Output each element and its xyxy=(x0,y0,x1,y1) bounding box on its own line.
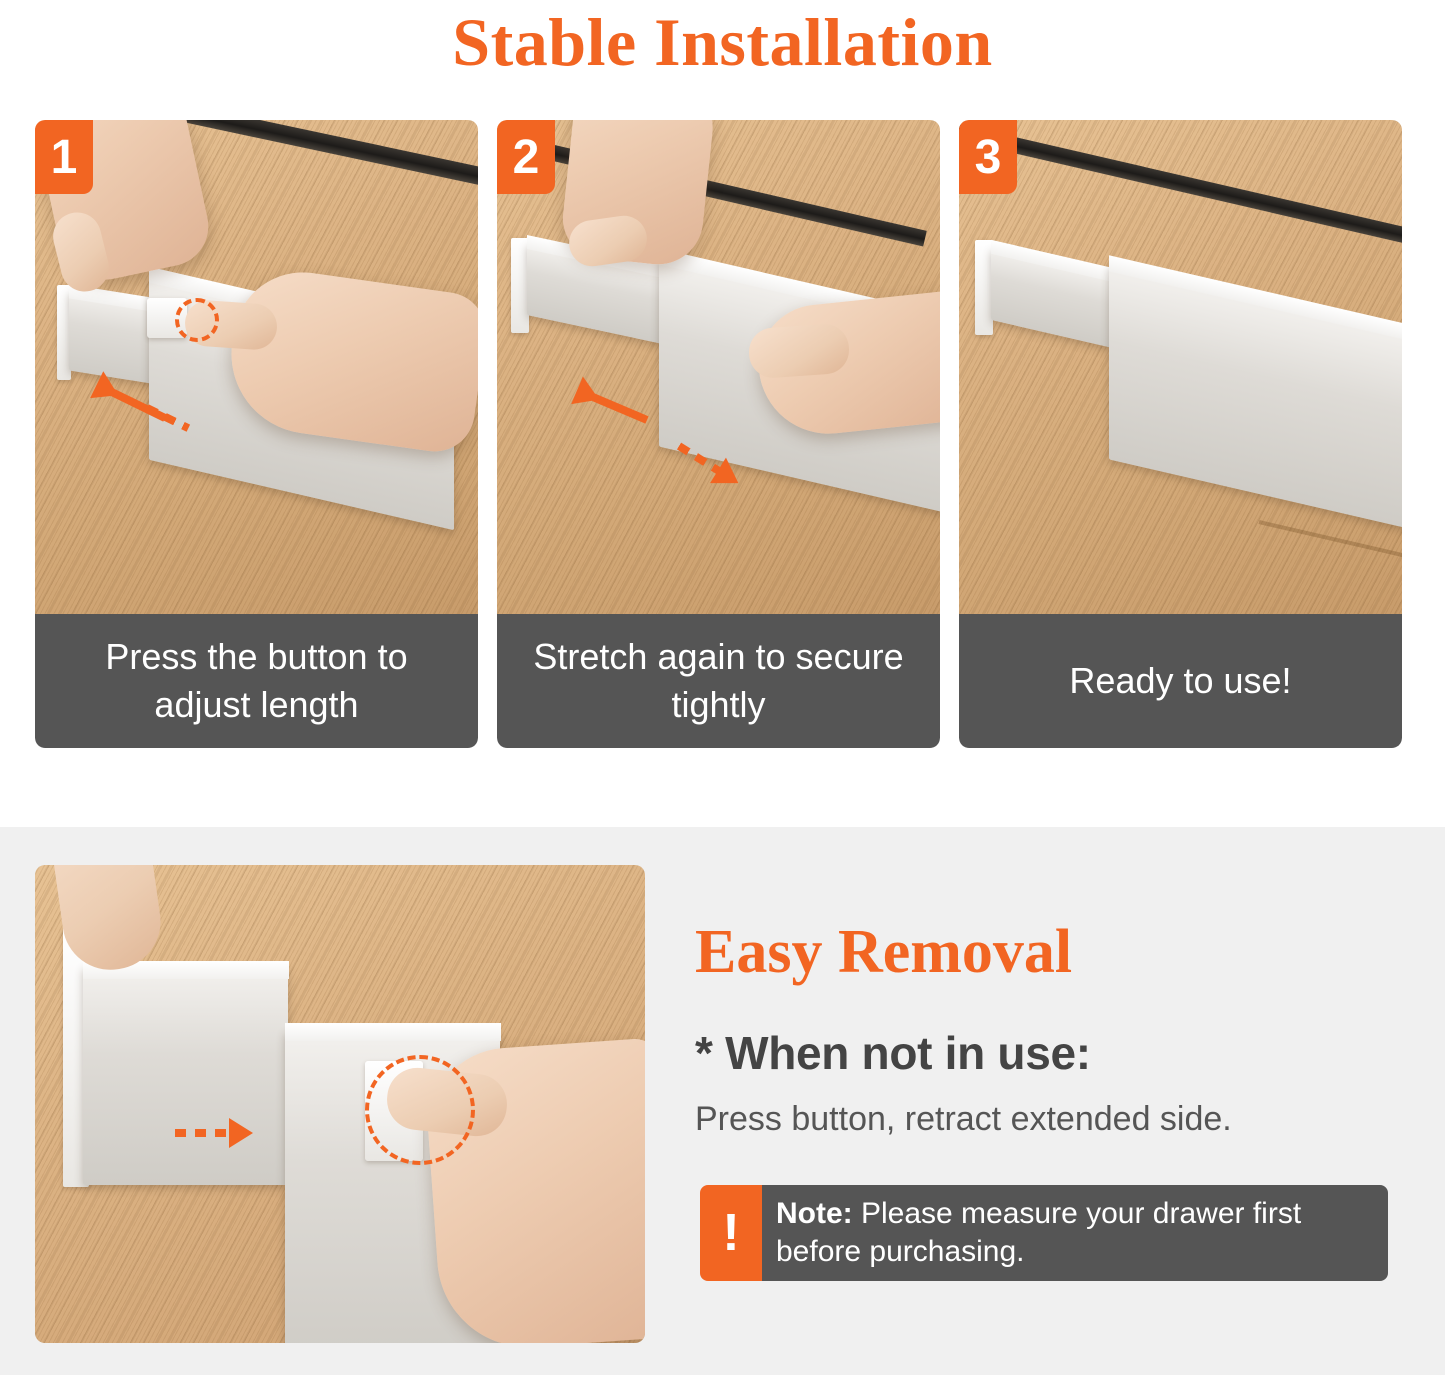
divider-inner-panel xyxy=(83,967,288,1185)
drawer-back-rail xyxy=(959,122,1402,243)
removal-instruction-text: Press button, retract extended side. xyxy=(695,1097,1232,1141)
drawer-wall-seam xyxy=(1259,520,1402,571)
step-badge-3: 3 xyxy=(959,120,1017,194)
drawer-back-rail xyxy=(497,125,927,246)
note-text: Note: Please measure your drawer first b… xyxy=(762,1185,1388,1281)
section-title-easy-removal: Easy Removal xyxy=(695,917,1072,987)
installation-steps-row: 1 Press the button to adjust length xyxy=(35,120,1410,748)
easy-removal-photo xyxy=(35,865,645,1343)
note-label: Note: xyxy=(776,1197,853,1230)
step-caption-3: Ready to use! xyxy=(959,614,1402,748)
step-caption-1: Press the button to adjust length xyxy=(35,614,478,748)
step-3-photo xyxy=(959,120,1402,614)
note-box: ! Note: Please measure your drawer first… xyxy=(700,1185,1388,1281)
step-2-photo xyxy=(497,120,940,614)
page-title: Stable Installation xyxy=(0,2,1445,82)
stable-installation-section: Stable Installation xyxy=(0,0,1445,827)
drawer-back-rail xyxy=(163,120,478,205)
release-button-highlight-circle xyxy=(365,1055,475,1165)
step-badge-2: 2 xyxy=(497,120,555,194)
step-panel-3: 3 Ready to use! xyxy=(959,120,1402,748)
easy-removal-section: Easy Removal * When not in use: Press bu… xyxy=(0,827,1445,1375)
step-panel-2: 2 Stretch again to secure tightly xyxy=(497,120,940,748)
note-message: Please measure your drawer first before … xyxy=(776,1197,1301,1268)
when-not-in-use-label: * When not in use: xyxy=(695,1025,1091,1081)
step-1-photo xyxy=(35,120,478,614)
divider-outer-top-edge xyxy=(285,1023,501,1041)
step-badge-1: 1 xyxy=(35,120,93,194)
finger-right-fingers xyxy=(747,323,850,380)
exclamation-mark-icon: ! xyxy=(700,1185,762,1281)
step-panel-1: 1 Press the button to adjust length xyxy=(35,120,478,748)
step-caption-2: Stretch again to secure tightly xyxy=(497,614,940,748)
release-button-highlight-circle xyxy=(175,298,219,342)
